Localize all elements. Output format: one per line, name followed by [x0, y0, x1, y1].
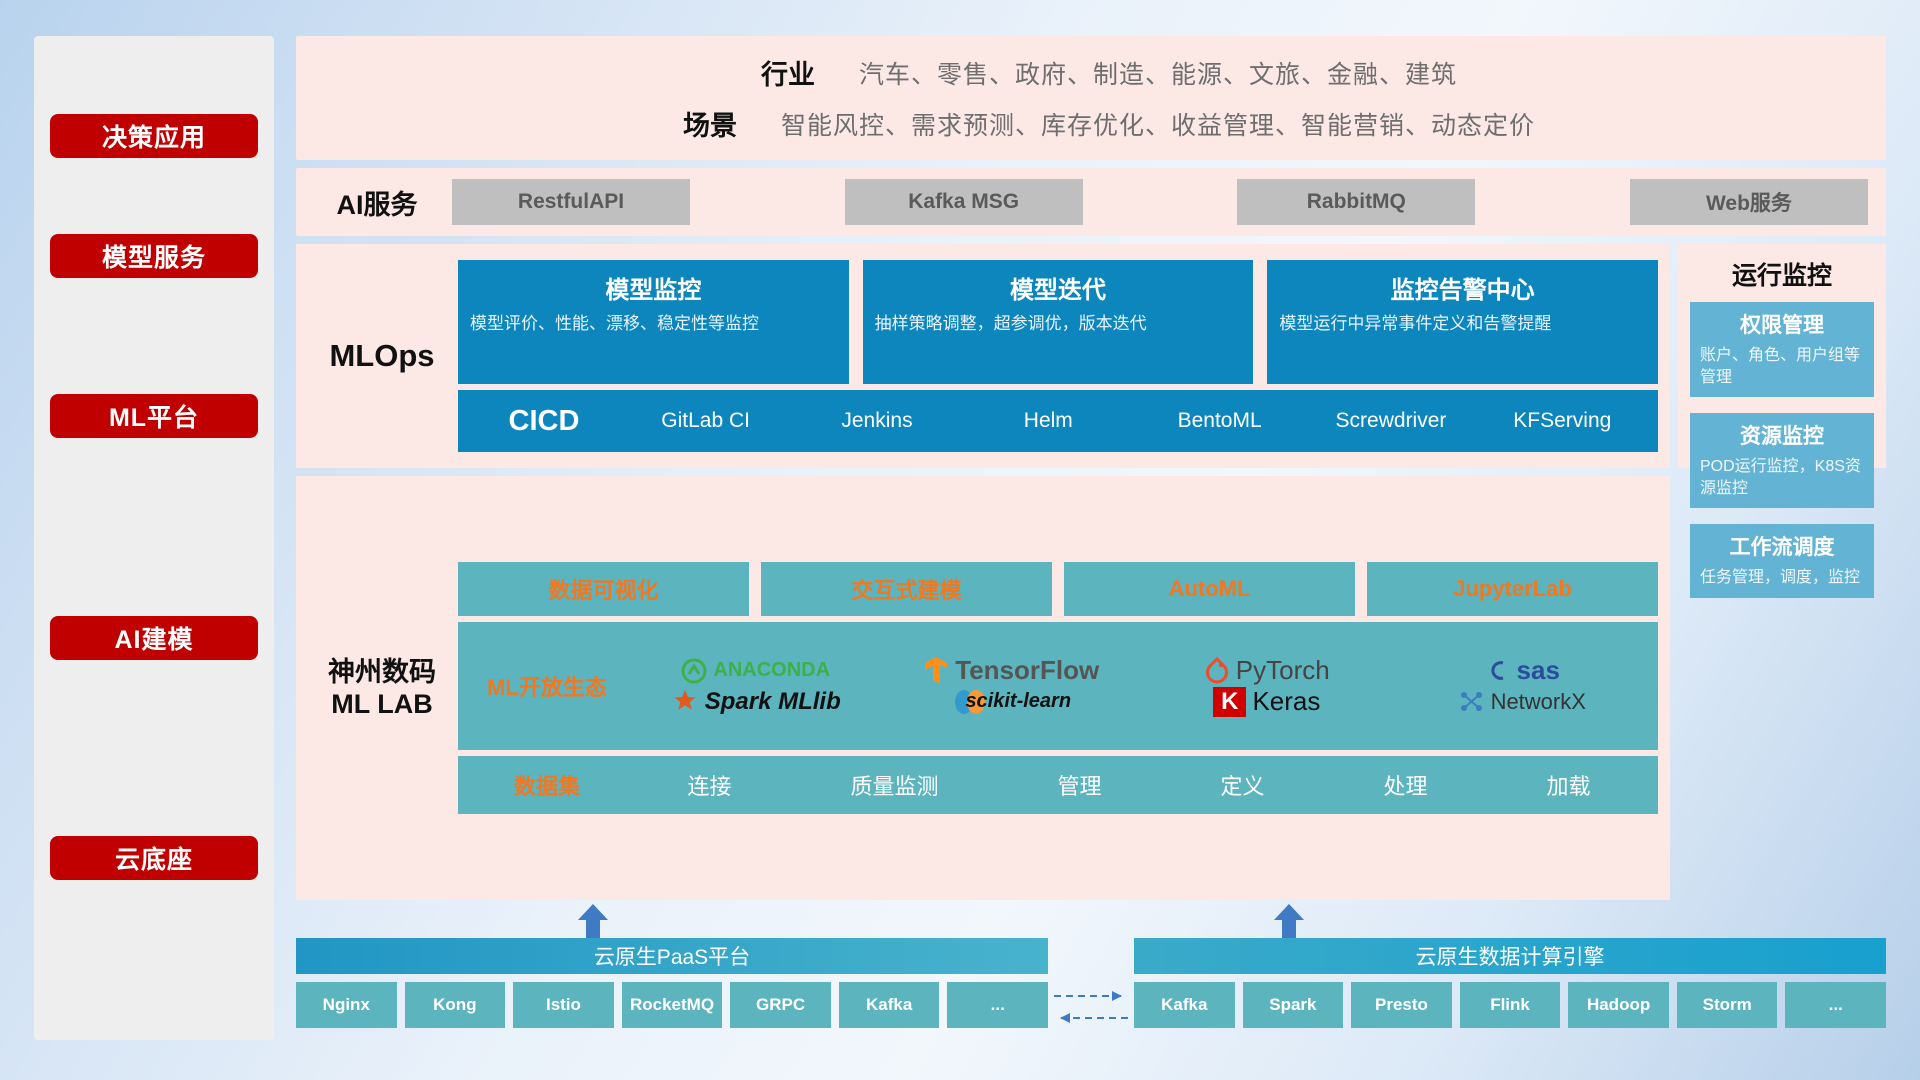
- compute-chip-presto[interactable]: Presto: [1351, 982, 1452, 1028]
- layer-rail: 决策应用 模型服务 ML平台 AI建模 云底座: [34, 36, 274, 1040]
- keras-label: Keras: [1252, 686, 1320, 717]
- ml-lab-title: 神州数码 ML LAB: [306, 656, 458, 721]
- cicd-label: CICD: [468, 405, 620, 438]
- compute-chip-hadoop[interactable]: Hadoop: [1568, 982, 1669, 1028]
- tensorflow-icon: [923, 656, 949, 686]
- ml-ecosystem-logo-grid: ANACONDA TensorFlow PyTorch: [628, 655, 1650, 717]
- ml-lab-title-line2: ML LAB: [306, 688, 458, 720]
- sas-label: sas: [1517, 655, 1560, 686]
- dataset-item-process[interactable]: 处理: [1383, 769, 1427, 801]
- keras-logo: K Keras: [1213, 686, 1320, 717]
- ai-service-chip-list: RestfulAPI Kafka MSG RabbitMQ Web服务: [448, 179, 1868, 225]
- monitoring-title: 运行监控: [1732, 256, 1832, 292]
- tab-jupyterlab[interactable]: JupyterLab: [1367, 562, 1658, 616]
- networkx-icon: [1459, 689, 1485, 715]
- cloud-paas-group: 云原生PaaS平台 Nginx Kong Istio RocketMQ GRPC…: [296, 938, 1048, 1028]
- cicd-item-bentoml[interactable]: BentoML: [1161, 409, 1279, 433]
- cloud-compute-bar: 云原生数据计算引擎: [1134, 938, 1886, 974]
- ai-chip-kafka-msg[interactable]: Kafka MSG: [845, 179, 1083, 225]
- dataset-label: 数据集: [466, 769, 628, 801]
- mlops-title: MLOps: [306, 338, 458, 374]
- cloud-chip-kafka[interactable]: Kafka: [839, 982, 940, 1028]
- ai-service-band: AI服务 RestfulAPI Kafka MSG RabbitMQ Web服务: [296, 168, 1886, 236]
- cloud-chip-kong[interactable]: Kong: [405, 982, 506, 1028]
- cicd-item-list: GitLab CI Jenkins Helm BentoML Screwdriv…: [620, 409, 1648, 433]
- tab-data-visualization[interactable]: 数据可视化: [458, 562, 749, 616]
- networkx-logo: NetworkX: [1459, 689, 1586, 715]
- mlops-card-model-monitoring[interactable]: 模型监控 模型评价、性能、漂移、稳定性等监控: [458, 260, 849, 384]
- up-arrow-right-icon: [1272, 904, 1306, 938]
- cloud-chip-more-left[interactable]: ...: [947, 982, 1048, 1028]
- tab-interactive-modeling[interactable]: 交互式建模: [761, 562, 1052, 616]
- cicd-item-screwdriver[interactable]: Screwdriver: [1332, 409, 1450, 433]
- scikit-learn-logo: scikit-learn: [951, 689, 1071, 715]
- scikit-learn-label: scikit-learn: [965, 690, 1071, 713]
- cloud-compute-chip-list: Kafka Spark Presto Flink Hadoop Storm ..…: [1134, 982, 1886, 1028]
- networkx-label: NetworkX: [1491, 689, 1586, 715]
- dataset-item-connect[interactable]: 连接: [687, 769, 731, 801]
- mlops-card-model-iteration[interactable]: 模型迭代 抽样策略调整，超参调优，版本迭代: [863, 260, 1254, 384]
- card-title: 模型监控: [605, 270, 701, 305]
- mlops-band: MLOps 模型监控 模型评价、性能、漂移、稳定性等监控 模型迭代 抽样策略调整…: [296, 244, 1670, 468]
- ml-lab-tab-list: 数据可视化 交互式建模 AutoML JupyterLab: [458, 562, 1658, 616]
- rail-item-model-service[interactable]: 模型服务: [50, 234, 258, 278]
- architecture-diagram: 决策应用 模型服务 ML平台 AI建模 云底座 行业 汽车、零售、政府、制造、能…: [0, 0, 1920, 1080]
- rail-item-ml-platform[interactable]: ML平台: [50, 394, 258, 438]
- cicd-bar: CICD GitLab CI Jenkins Helm BentoML Scre…: [458, 390, 1658, 452]
- compute-chip-storm[interactable]: Storm: [1677, 982, 1778, 1028]
- ml-ecosystem-label: ML开放生态: [466, 670, 628, 702]
- ml-lab-body: 数据可视化 交互式建模 AutoML JupyterLab ML开放生态 ANA…: [458, 486, 1658, 890]
- spark-mllib-logo: Spark MLlib: [671, 688, 841, 716]
- mlops-card-alert-center[interactable]: 监控告警中心 模型运行中异常事件定义和告警提醒: [1267, 260, 1658, 384]
- cloud-paas-bar: 云原生PaaS平台: [296, 938, 1048, 974]
- ml-lab-row: 神州数码 ML LAB 数据可视化 交互式建模 AutoML JupyterLa…: [296, 476, 1886, 900]
- ml-lab-title-line1: 神州数码: [306, 656, 458, 688]
- card-title: 权限管理: [1700, 309, 1864, 339]
- ai-chip-restfulapi[interactable]: RestfulAPI: [452, 179, 690, 225]
- rail-item-decision-app[interactable]: 决策应用: [50, 114, 258, 158]
- card-title: 监控告警中心: [1391, 270, 1535, 305]
- cloud-foundation-row: 云原生PaaS平台 Nginx Kong Istio RocketMQ GRPC…: [296, 908, 1886, 1040]
- card-title: 模型迭代: [1010, 270, 1106, 305]
- scenario-value: 智能风控、需求预测、库存优化、收益管理、智能营销、动态定价: [781, 106, 1535, 142]
- spark-icon: [671, 689, 699, 715]
- spark-mllib-label: Spark MLlib: [705, 688, 841, 716]
- compute-chip-flink[interactable]: Flink: [1460, 982, 1561, 1028]
- compute-chip-spark[interactable]: Spark: [1243, 982, 1344, 1028]
- cicd-item-helm[interactable]: Helm: [989, 409, 1107, 433]
- ai-chip-web-service[interactable]: Web服务: [1630, 179, 1868, 225]
- pytorch-icon: [1204, 657, 1230, 685]
- mlops-row: MLOps 模型监控 模型评价、性能、漂移、稳定性等监控 模型迭代 抽样策略调整…: [296, 244, 1886, 468]
- cloud-compute-group: 云原生数据计算引擎 Kafka Spark Presto Flink Hadoo…: [1134, 938, 1886, 1028]
- monitoring-panel: 运行监控 权限管理 账户、角色、用户组等管理 资源监控 POD运行监控，K8S资…: [1678, 244, 1886, 468]
- cicd-item-gitlab-ci[interactable]: GitLab CI: [647, 409, 765, 433]
- sas-logo: sas: [1485, 655, 1560, 686]
- cloud-chip-nginx[interactable]: Nginx: [296, 982, 397, 1028]
- compute-chip-kafka[interactable]: Kafka: [1134, 982, 1235, 1028]
- cloud-chip-grpc[interactable]: GRPC: [730, 982, 831, 1028]
- industry-value: 汽车、零售、政府、制造、能源、文旅、金融、建筑: [859, 55, 1457, 91]
- card-desc: 账户、角色、用户组等管理: [1700, 345, 1864, 388]
- main-column: 行业 汽车、零售、政府、制造、能源、文旅、金融、建筑 场景 智能风控、需求预测、…: [296, 36, 1886, 1040]
- card-desc: 模型评价、性能、漂移、稳定性等监控: [470, 313, 837, 336]
- rail-item-ai-modeling[interactable]: AI建模: [50, 616, 258, 660]
- industry-scenario-band: 行业 汽车、零售、政府、制造、能源、文旅、金融、建筑 场景 智能风控、需求预测、…: [296, 36, 1886, 160]
- industry-line: 行业 汽车、零售、政府、制造、能源、文旅、金融、建筑: [717, 53, 1457, 92]
- scenario-line: 场景 智能风控、需求预测、库存优化、收益管理、智能营销、动态定价: [639, 104, 1535, 143]
- ai-service-title: AI服务: [306, 183, 448, 222]
- card-desc: 抽样策略调整，超参调优，版本迭代: [875, 313, 1242, 336]
- ml-lab-band: 神州数码 ML LAB 数据可视化 交互式建模 AutoML JupyterLa…: [296, 476, 1670, 900]
- mlops-card-list: 模型监控 模型评价、性能、漂移、稳定性等监控 模型迭代 抽样策略调整，超参调优，…: [458, 260, 1658, 384]
- rail-item-cloud-base[interactable]: 云底座: [50, 836, 258, 880]
- anaconda-logo: ANACONDA: [681, 658, 830, 684]
- sas-icon: [1485, 658, 1511, 684]
- compute-chip-more-right[interactable]: ...: [1785, 982, 1886, 1028]
- card-title: 资源监控: [1700, 420, 1864, 450]
- tab-automl[interactable]: AutoML: [1064, 562, 1355, 616]
- card-desc: 模型运行中异常事件定义和告警提醒: [1279, 313, 1646, 336]
- cloud-paas-chip-list: Nginx Kong Istio RocketMQ GRPC Kafka ...: [296, 982, 1048, 1028]
- keras-mark: K: [1213, 687, 1246, 717]
- dataset-item-manage[interactable]: 管理: [1057, 769, 1101, 801]
- bidirectional-dashed-arrows-icon: [1048, 984, 1134, 1030]
- dataset-item-define[interactable]: 定义: [1220, 769, 1264, 801]
- cloud-chip-istio[interactable]: Istio: [513, 982, 614, 1028]
- pytorch-label: PyTorch: [1236, 655, 1330, 686]
- ml-ecosystem-panel: ML开放生态 ANACONDA TensorFlow: [458, 622, 1658, 750]
- cicd-item-kfserving[interactable]: KFServing: [1503, 409, 1621, 433]
- mlops-body: 模型监控 模型评价、性能、漂移、稳定性等监控 模型迭代 抽样策略调整，超参调优，…: [458, 260, 1658, 452]
- monitoring-card-permission[interactable]: 权限管理 账户、角色、用户组等管理: [1690, 302, 1874, 397]
- tensorflow-label: TensorFlow: [955, 655, 1099, 686]
- pytorch-logo: PyTorch: [1204, 655, 1330, 686]
- dataset-bar: 数据集 连接 质量监测 管理 定义 处理 加载: [458, 756, 1658, 814]
- cicd-item-jenkins[interactable]: Jenkins: [818, 409, 936, 433]
- dataset-item-load[interactable]: 加载: [1546, 769, 1590, 801]
- anaconda-icon: [681, 658, 707, 684]
- cloud-chip-rocketmq[interactable]: RocketMQ: [622, 982, 723, 1028]
- lab-right-spacer: [1678, 476, 1886, 900]
- scenario-label: 场景: [639, 104, 781, 143]
- ai-chip-rabbitmq[interactable]: RabbitMQ: [1237, 179, 1475, 225]
- industry-label: 行业: [717, 53, 859, 92]
- up-arrow-left-icon: [576, 904, 610, 938]
- dataset-item-quality-monitor[interactable]: 质量监测: [850, 769, 938, 801]
- dataset-item-list: 连接 质量监测 管理 定义 处理 加载: [628, 769, 1650, 801]
- anaconda-label: ANACONDA: [713, 659, 830, 682]
- tensorflow-logo: TensorFlow: [923, 655, 1099, 686]
